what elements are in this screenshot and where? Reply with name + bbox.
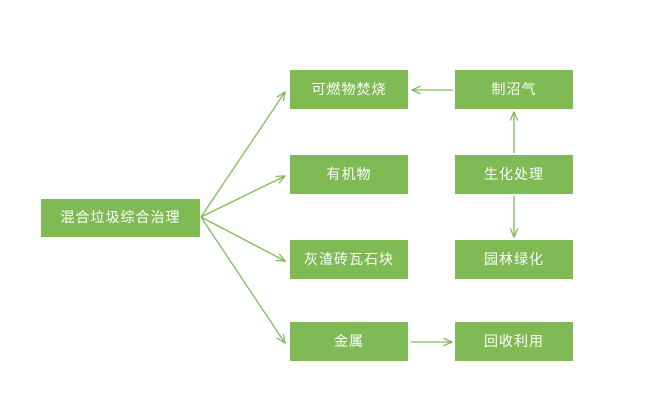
node-metal[interactable]: 金属 [290,322,408,361]
node-landscaping[interactable]: 园林绿化 [455,240,573,279]
node-organic-matter[interactable]: 有机物 [290,155,408,194]
edge-source-to-metal [201,217,285,343]
node-ash-brick-stone-label: 灰渣砖瓦石块 [304,253,394,267]
node-combustible-incineration-label: 可燃物焚烧 [312,83,387,97]
node-biogas-production[interactable]: 制沼气 [455,70,573,109]
node-biochemical-treatment[interactable]: 生化处理 [455,155,573,194]
node-source[interactable]: 混合垃圾综合治理 [41,199,200,237]
node-combustible-incineration[interactable]: 可燃物焚烧 [290,70,408,109]
node-ash-brick-stone[interactable]: 灰渣砖瓦石块 [290,240,408,279]
node-metal-label: 金属 [334,335,364,349]
node-source-label: 混合垃圾综合治理 [61,211,181,225]
node-recycling[interactable]: 回收利用 [455,322,573,361]
diagram-canvas: 混合垃圾综合治理 可燃物焚烧 制沼气 有机物 生化处理 灰渣砖瓦石块 园林绿化 … [0,0,648,416]
node-landscaping-label: 园林绿化 [484,253,544,267]
node-organic-matter-label: 有机物 [327,168,372,182]
edge-source-to-organic [201,176,285,217]
node-biochemical-treatment-label: 生化处理 [484,168,544,182]
edge-source-to-ash [201,217,285,261]
edge-source-to-combustible [201,92,285,217]
node-recycling-label: 回收利用 [484,335,544,349]
node-biogas-production-label: 制沼气 [492,83,537,97]
